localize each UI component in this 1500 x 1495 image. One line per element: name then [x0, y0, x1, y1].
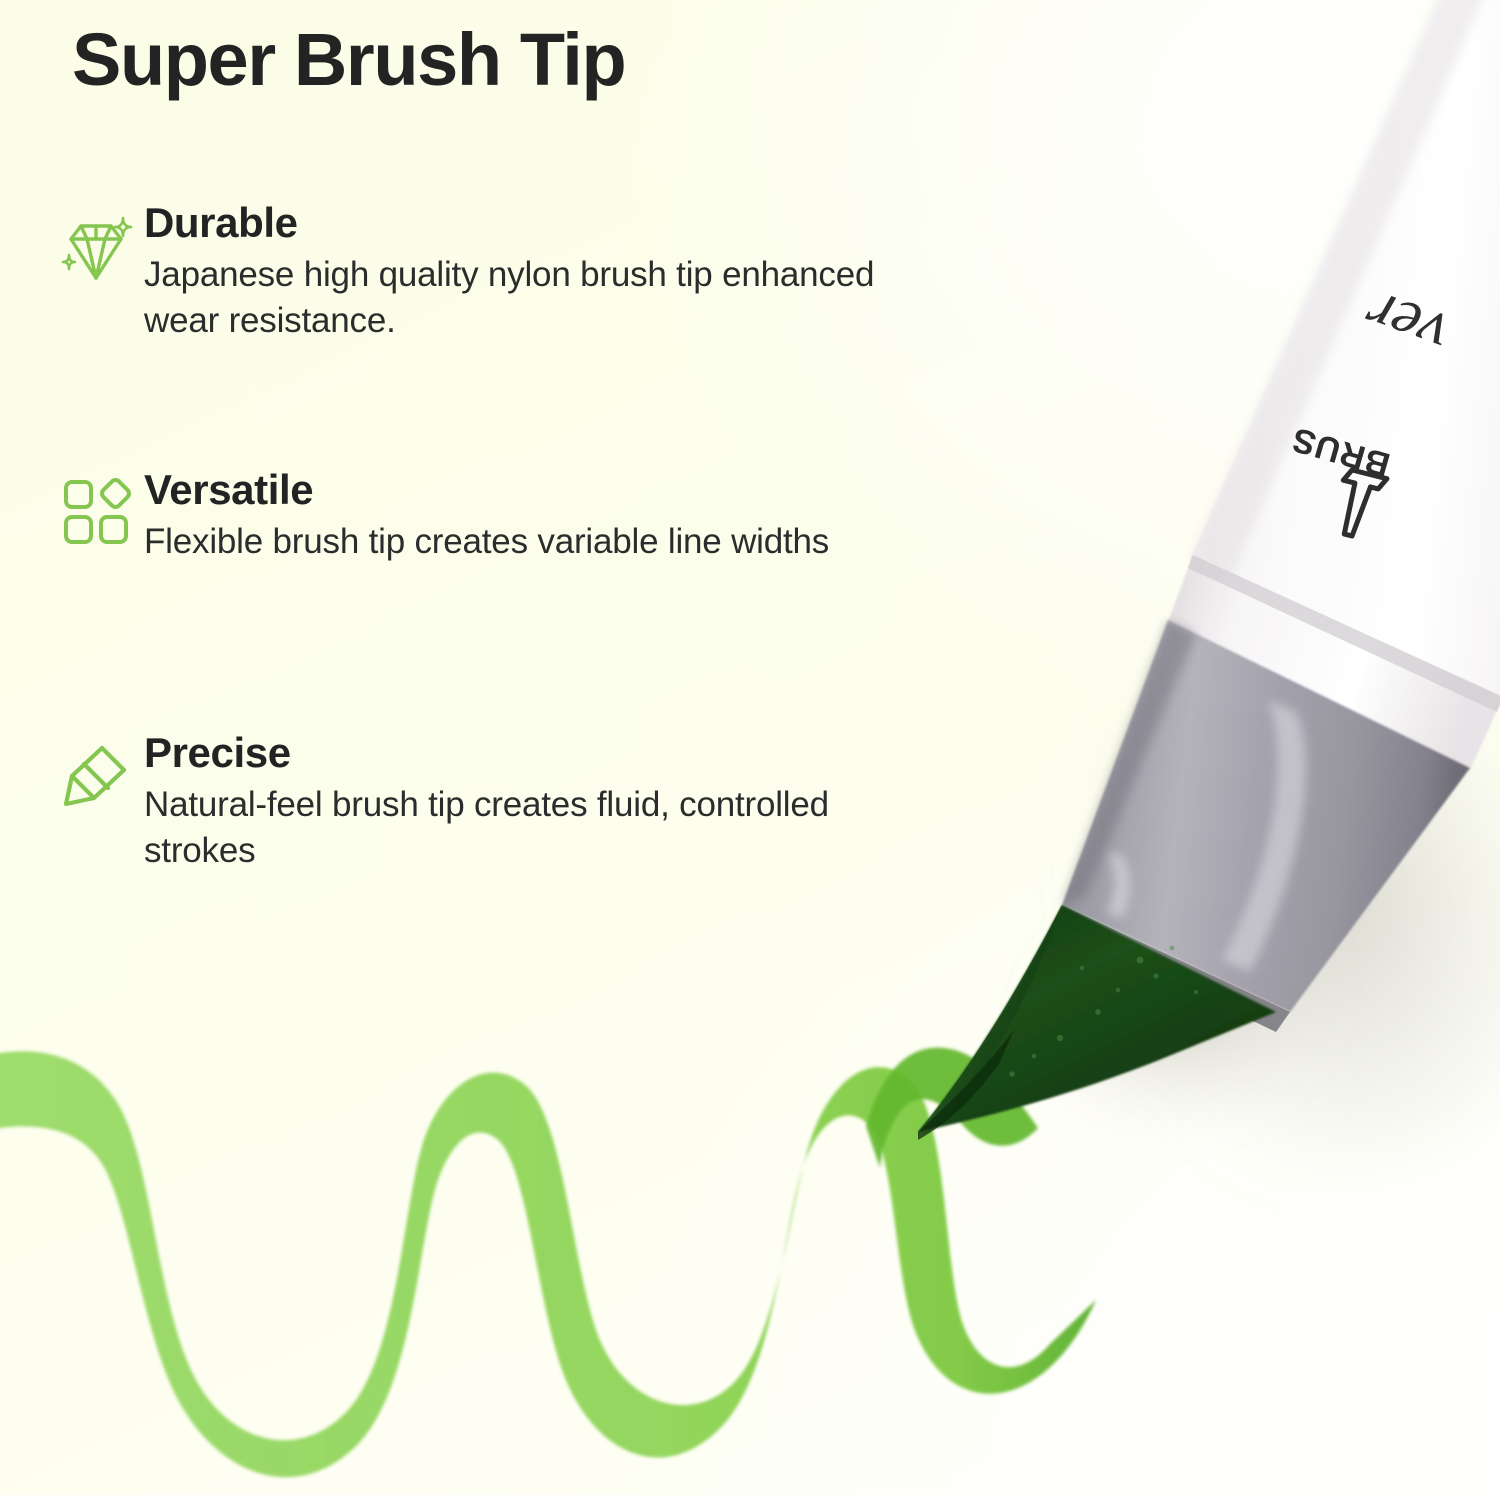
feature-item-durable: Durable Japanese high quality nylon brus…	[48, 196, 928, 343]
diamond-sparkle-icon	[48, 196, 144, 292]
feature-description: Flexible brush tip creates variable line…	[144, 519, 829, 565]
feature-item-precise: Precise Natural-feel brush tip creates f…	[48, 726, 928, 873]
feature-heading: Precise	[144, 730, 884, 776]
feature-heading: Durable	[144, 200, 884, 246]
feature-item-versatile: Versatile Flexible brush tip creates var…	[48, 463, 928, 565]
feature-description: Japanese high quality nylon brush tip en…	[144, 252, 884, 343]
feature-text-block: Precise Natural-feel brush tip creates f…	[144, 726, 884, 873]
pen-nib-icon	[48, 726, 144, 822]
feature-text-block: Versatile Flexible brush tip creates var…	[144, 463, 829, 565]
marker-barrel-text: ver	[1355, 277, 1457, 372]
page-title: Super Brush Tip	[72, 22, 625, 97]
feature-description: Natural-feel brush tip creates fluid, co…	[144, 782, 884, 873]
marker-cap-label: BRUS	[1287, 420, 1394, 484]
grid-category-icon	[48, 463, 144, 559]
feature-heading: Versatile	[144, 467, 829, 513]
product-feature-image: BRUS ver Super Brush Tip	[0, 0, 1500, 1495]
feature-text-block: Durable Japanese high quality nylon brus…	[144, 196, 884, 343]
